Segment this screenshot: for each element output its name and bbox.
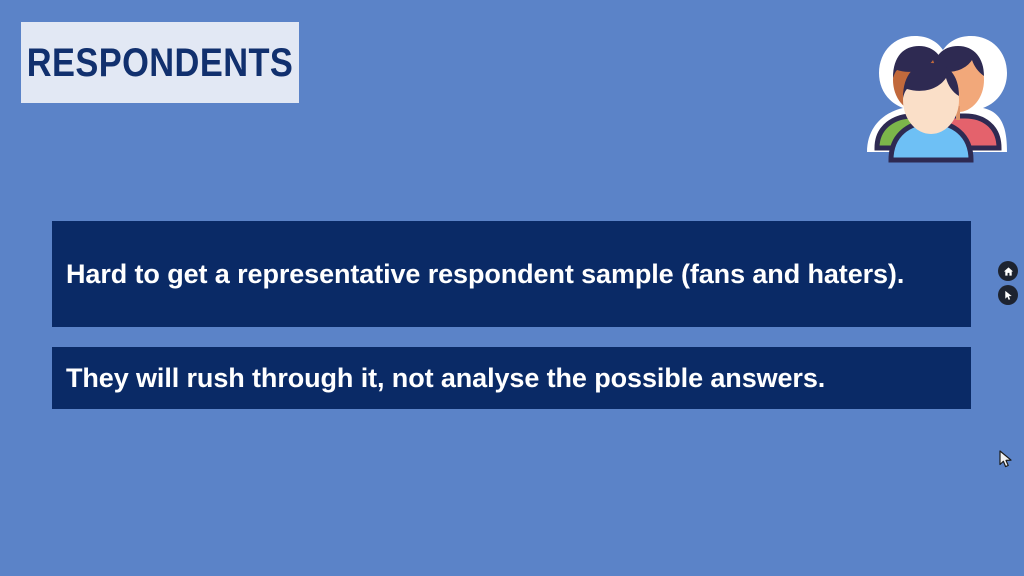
- page-title: RESPONDENTS: [27, 43, 294, 83]
- slide-canvas: RESPONDENTS: [0, 0, 1024, 576]
- cursor-pointer-icon: [1003, 290, 1014, 301]
- home-icon: [1003, 266, 1014, 277]
- page-title-plaque: RESPONDENTS: [21, 22, 299, 103]
- statement-text-2: They will rush through it, not analyse t…: [66, 359, 825, 397]
- cursor-button[interactable]: [998, 285, 1018, 305]
- people-group-icon: [855, 28, 1007, 168]
- statement-bar-1: Hard to get a representative respondent …: [52, 221, 971, 327]
- home-button[interactable]: [998, 261, 1018, 281]
- statement-text-1: Hard to get a representative respondent …: [66, 255, 904, 293]
- statement-bar-2: They will rush through it, not analyse t…: [52, 347, 971, 409]
- mouse-pointer-cursor: [999, 450, 1013, 468]
